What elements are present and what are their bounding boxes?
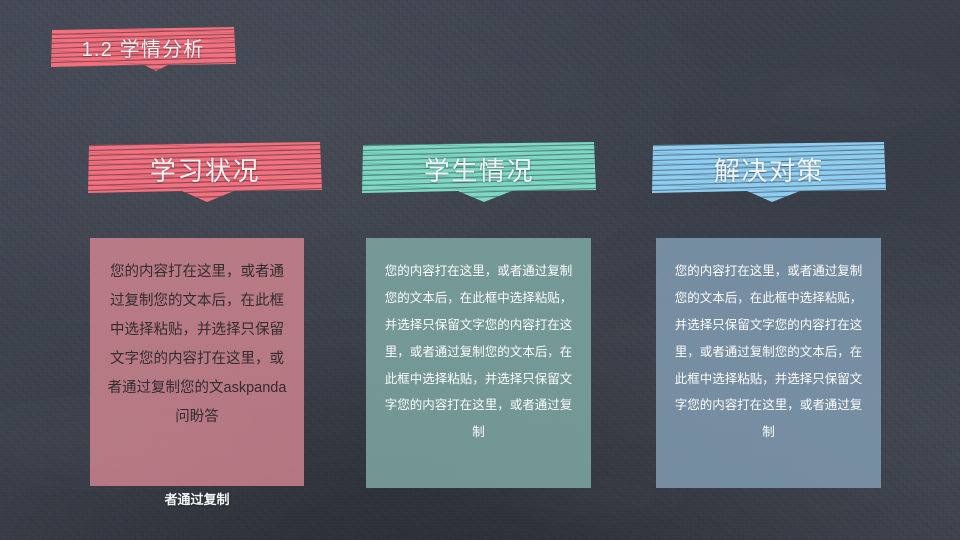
slide-title-banner: 1.2 学情分析 — [48, 24, 238, 72]
content-card-body-text: 您的内容打在这里，或者通过复制您的文本后，在此框中选择粘贴，并选择只保留文字您的… — [382, 258, 575, 446]
column-header-banner-solution-strategy: 解决对策 — [650, 138, 888, 204]
content-card-body-text: 您的内容打在这里，或者通过复制您的文本后，在此框中选择粘贴，并选择只保留文字您的… — [672, 258, 865, 446]
overflow-text-learning-status: 者通过复制 — [90, 489, 304, 508]
title-scribble-graphic — [48, 24, 238, 72]
content-card-student-situation: 您的内容打在这里，或者通过复制您的文本后，在此框中选择粘贴，并选择只保留文字您的… — [366, 238, 591, 488]
content-card-learning-status: 您的内容打在这里，或者通过复制您的文本后，在此框中选择粘贴，并选择只保留文字您的… — [90, 238, 304, 486]
header-scribble-graphic — [650, 138, 888, 204]
column-header-banner-student-situation: 学生情况 — [360, 138, 598, 204]
content-card-body-text: 您的内容打在这里，或者通过复制您的文本后，在此框中选择粘贴，并选择只保留文字您的… — [106, 258, 288, 432]
content-card-solution-strategy: 您的内容打在这里，或者通过复制您的文本后，在此框中选择粘贴，并选择只保留文字您的… — [656, 238, 881, 488]
column-header-banner-learning-status: 学习状况 — [86, 138, 324, 204]
header-scribble-graphic — [86, 138, 324, 204]
header-scribble-graphic — [360, 138, 598, 204]
